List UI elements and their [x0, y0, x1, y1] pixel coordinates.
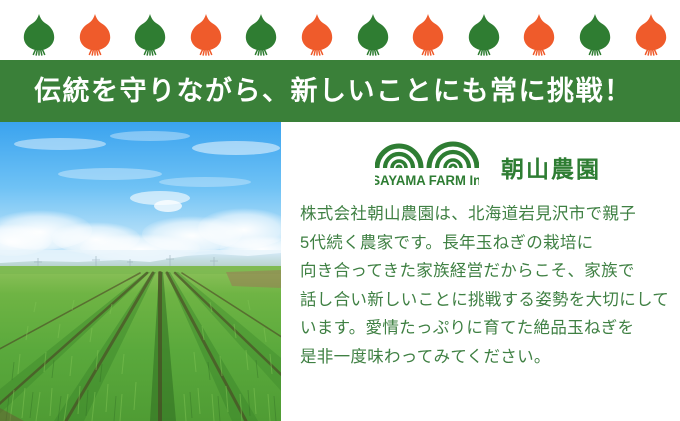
onion-icon — [467, 12, 501, 56]
headline-text: 伝統を守りながら、新しいことにも常に挑戦！ — [0, 78, 633, 105]
headline-banner: 伝統を守りながら、新しいことにも常に挑戦！ — [0, 60, 680, 122]
about-line: 話し合い新しいことに挑戦する姿勢を大切にして — [300, 286, 678, 315]
onion-icon — [356, 12, 390, 56]
onion-icon — [22, 12, 56, 56]
brand-name-japanese: 朝山農園 — [501, 158, 601, 190]
onion-field-photo — [0, 122, 281, 421]
onion-icon — [78, 12, 112, 56]
onion-icon — [244, 12, 278, 56]
onion-icon — [133, 12, 167, 56]
about-line: います。愛情たっぷりに育てた絶品玉ねぎを — [300, 314, 678, 343]
about-line: 5代続く農家です。長年玉ねぎの栽培に — [300, 229, 678, 258]
about-paragraph: 株式会社朝山農園は、北海道岩見沢市で親子 5代続く農家です。長年玉ねぎの栽培に … — [300, 200, 678, 371]
onion-icon — [578, 12, 612, 56]
content-area: ASAYAMA FARM Inc. 朝山農園 株式会社朝山農園は、北海道岩見沢市… — [0, 122, 680, 421]
info-panel: ASAYAMA FARM Inc. 朝山農園 株式会社朝山農園は、北海道岩見沢市… — [281, 122, 680, 421]
about-line: 株式会社朝山農園は、北海道岩見沢市で親子 — [300, 200, 678, 229]
onion-icon — [411, 12, 445, 56]
onion-icon — [189, 12, 223, 56]
onion-icon — [634, 12, 668, 56]
onion-icon — [300, 12, 334, 56]
asayama-farm-logo-icon: ASAYAMA FARM Inc. — [375, 134, 479, 190]
brand-row: ASAYAMA FARM Inc. 朝山農園 — [375, 134, 601, 190]
about-line: 向き合ってきた家族経営だからこそ、家族で — [300, 257, 678, 286]
logo-wordmark-text: ASAYAMA FARM Inc. — [375, 173, 479, 188]
onion-decorative-row — [0, 0, 680, 58]
promo-page: 伝統を守りながら、新しいことにも常に挑戦！ — [0, 0, 680, 421]
onion-icon — [522, 12, 556, 56]
about-line: 是非一度味わってみてください。 — [300, 343, 678, 372]
